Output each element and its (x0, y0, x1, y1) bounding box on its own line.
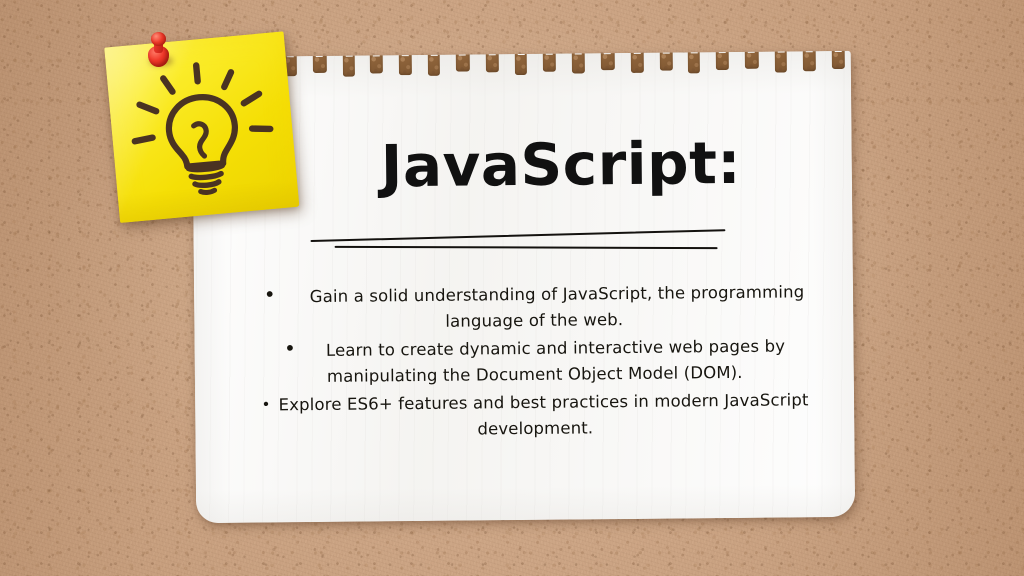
pushpin-head (151, 32, 166, 46)
slide-canvas: JavaScript: •Gain a solid understanding … (0, 0, 1024, 576)
pushpin-icon (143, 30, 177, 72)
list-item-text: Explore ES6+ features and best practices… (279, 390, 809, 438)
list-item: •Learn to create dynamic and interactive… (238, 333, 830, 391)
bullet-marker-icon: • (264, 282, 310, 306)
list-item-text: Gain a solid understanding of JavaScript… (310, 282, 805, 330)
page-title: JavaScript: (381, 134, 722, 195)
list-item: •Gain a solid understanding of JavaScrip… (238, 279, 830, 337)
sticky-note (104, 31, 303, 227)
lightbulb-icon (122, 51, 283, 210)
list-item-text: Learn to create dynamic and interactive … (326, 337, 785, 386)
title-block: JavaScript: (381, 134, 722, 195)
underline-stroke-top (311, 229, 726, 242)
bullet-marker-icon: • (284, 336, 326, 360)
title-underline (303, 224, 733, 254)
sticky-note-surface (104, 31, 299, 223)
bullet-list: •Gain a solid understanding of JavaScrip… (238, 279, 832, 447)
list-item: •Explore ES6+ features and best practice… (239, 387, 831, 445)
underline-stroke-bottom (335, 246, 718, 249)
bullet-marker-icon: • (262, 395, 279, 413)
